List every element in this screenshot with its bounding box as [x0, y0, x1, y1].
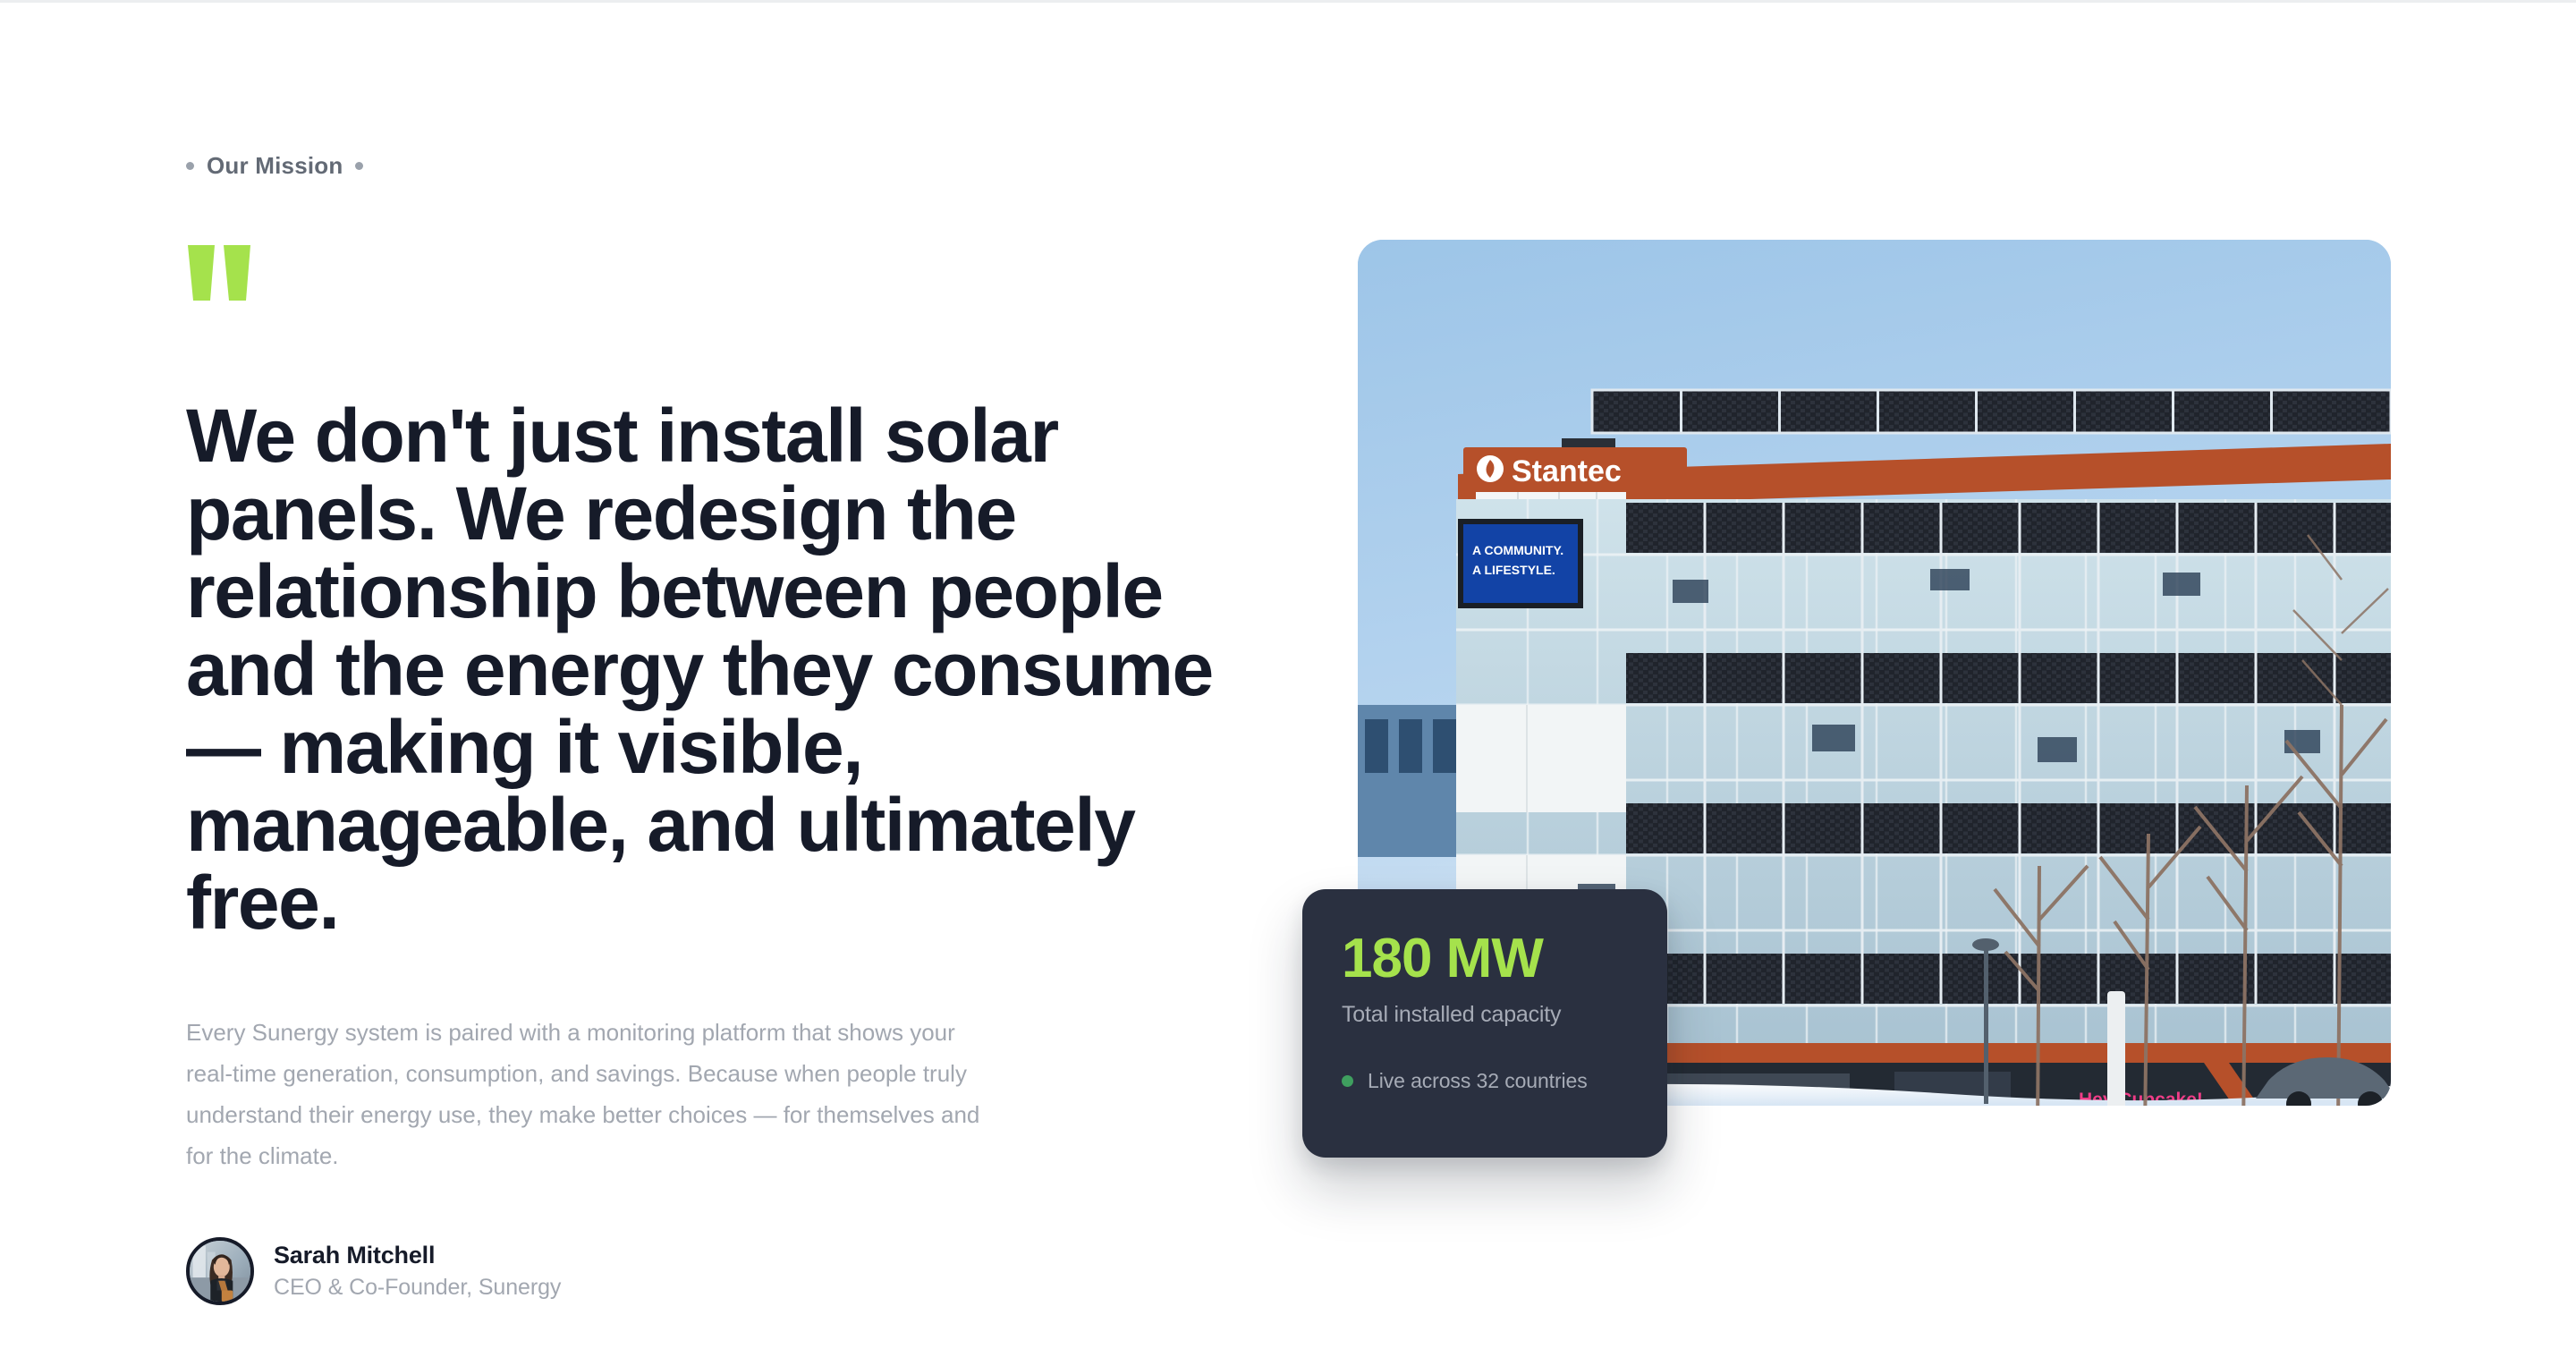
stat-value: 180 MW	[1342, 930, 1631, 988]
svg-text:Stantec: Stantec	[1512, 454, 1622, 488]
stat-status-row: Live across 32 countries	[1342, 1069, 1631, 1093]
author-role: CEO & Co-Founder, Sunergy	[274, 1275, 561, 1301]
stat-label: Total installed capacity	[1342, 1002, 1631, 1028]
eyebrow-text: Our Mission	[207, 152, 343, 180]
eyebrow-label: Our Mission	[186, 150, 1241, 181]
mission-section: Our Mission We don't just install solar …	[0, 0, 2576, 1349]
author-name: Sarah Mitchell	[274, 1242, 561, 1269]
mission-text-column: Our Mission We don't just install solar …	[186, 150, 1241, 1305]
status-text: Live across 32 countries	[1368, 1069, 1588, 1093]
page-title: We don't just install solar panels. We r…	[186, 397, 1241, 942]
avatar	[186, 1237, 254, 1305]
section-divider	[0, 0, 2576, 3]
svg-text:A LIFESTYLE.: A LIFESTYLE.	[1472, 563, 1555, 577]
stat-card: 180 MW Total installed capacity Live acr…	[1302, 889, 1667, 1158]
bullet-dot-right-icon	[355, 162, 363, 170]
mission-body-text: Every Sunergy system is paired with a mo…	[186, 1012, 991, 1176]
quote-mark-icon	[186, 245, 256, 301]
status-dot-icon	[1342, 1075, 1353, 1087]
svg-text:A COMMUNITY.: A COMMUNITY.	[1472, 543, 1563, 557]
author-attribution: Sarah Mitchell CEO & Co-Founder, Sunergy	[186, 1237, 1241, 1305]
bullet-dot-left-icon	[186, 162, 194, 170]
